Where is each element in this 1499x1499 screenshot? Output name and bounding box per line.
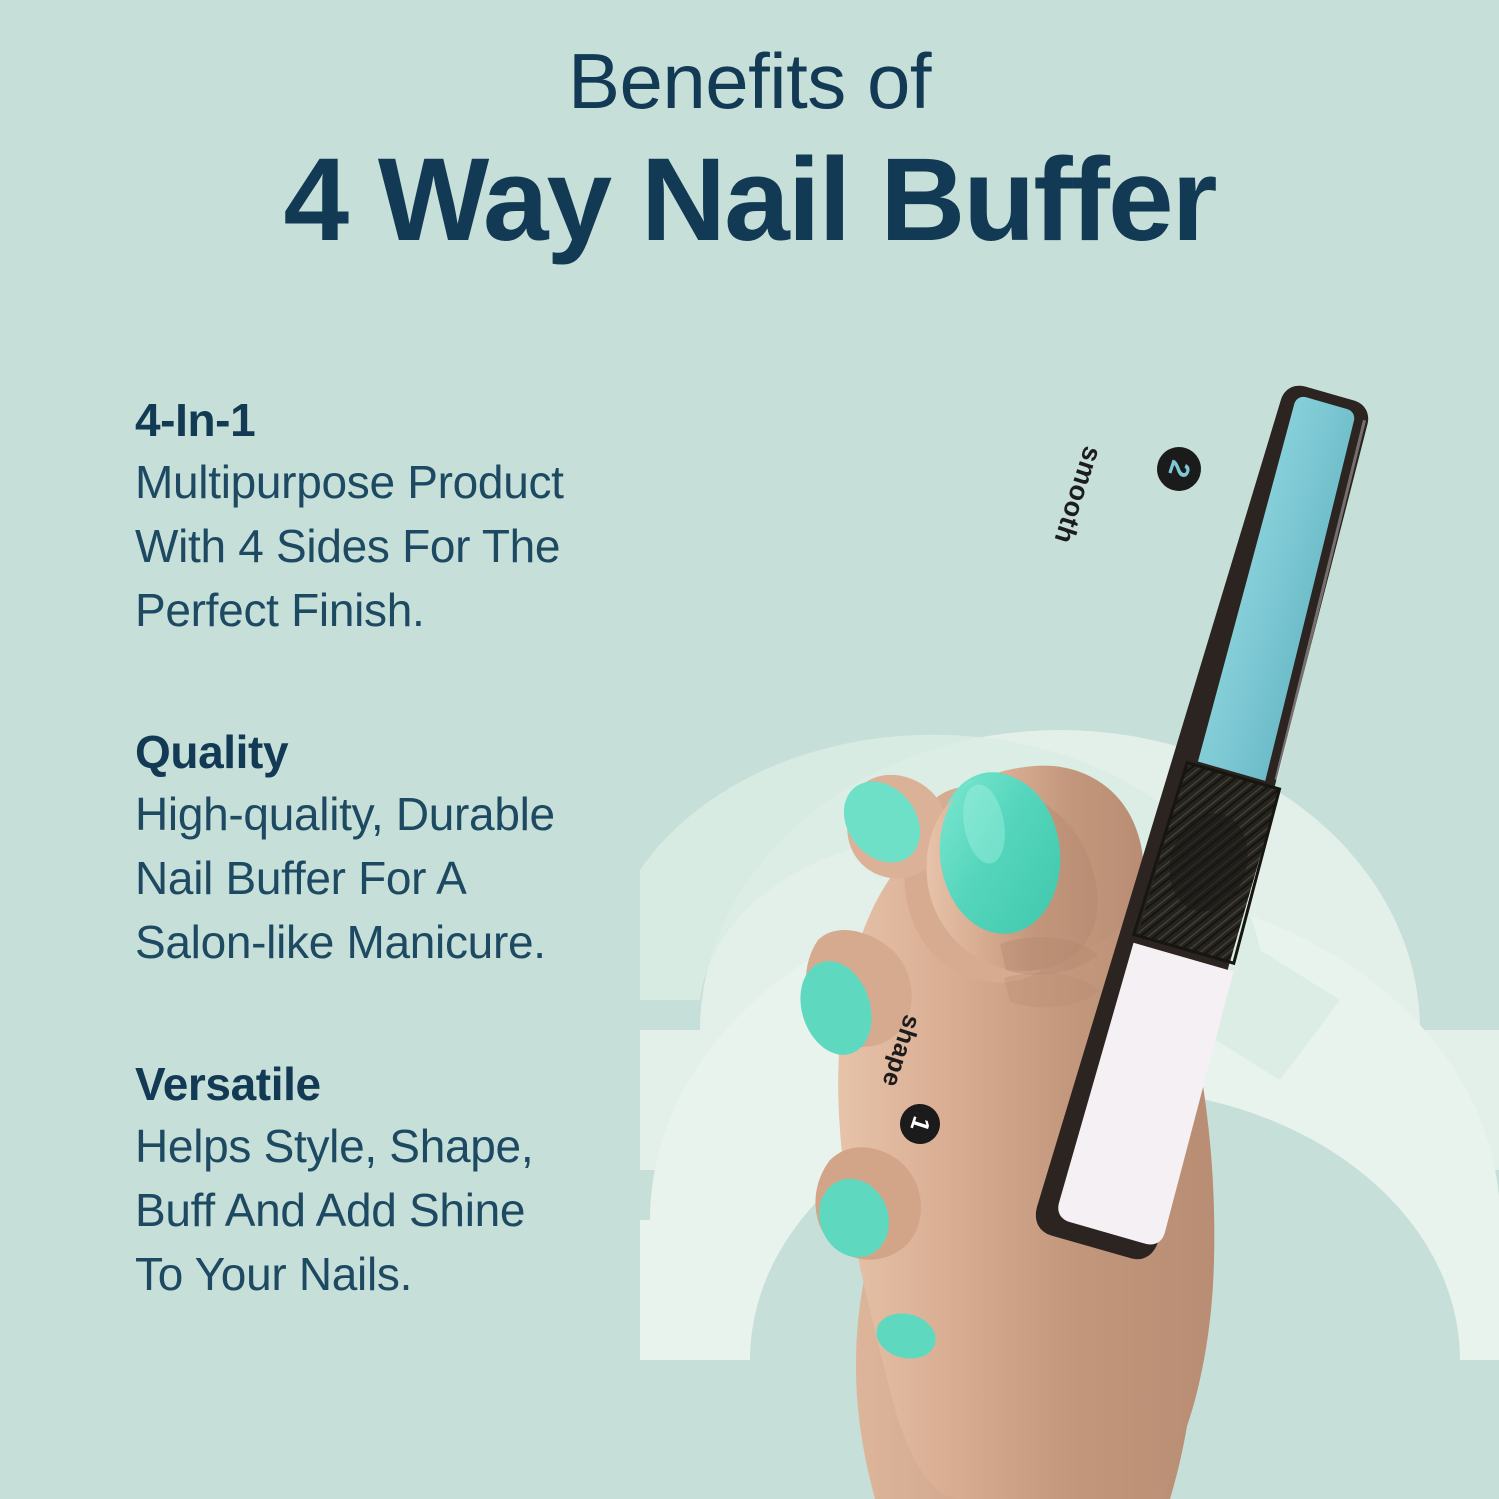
infographic-canvas: Benefits of 4 Way Nail Buffer 4-In-1 Mul…	[0, 0, 1499, 1499]
benefit-body: Multipurpose Product With 4 Sides For Th…	[135, 450, 755, 642]
benefit-body: Helps Style, Shape, Buff And Add Shine T…	[135, 1114, 755, 1306]
benefit-title: 4-In-1	[135, 392, 755, 448]
headline-eyebrow: Benefits of	[0, 38, 1499, 124]
benefit-body: High-quality, Durable Nail Buffer For A …	[135, 782, 755, 974]
headline-block: Benefits of 4 Way Nail Buffer	[0, 38, 1499, 260]
product-photo	[700, 330, 1499, 1499]
benefits-list: 4-In-1 Multipurpose Product With 4 Sides…	[135, 392, 755, 1366]
page-title: 4 Way Nail Buffer	[0, 140, 1499, 260]
benefit-item: Quality High-quality, Durable Nail Buffe…	[135, 724, 755, 974]
benefit-item: Versatile Helps Style, Shape, Buff And A…	[135, 1056, 755, 1306]
benefit-title: Quality	[135, 724, 755, 780]
benefit-item: 4-In-1 Multipurpose Product With 4 Sides…	[135, 392, 755, 642]
benefit-title: Versatile	[135, 1056, 755, 1112]
